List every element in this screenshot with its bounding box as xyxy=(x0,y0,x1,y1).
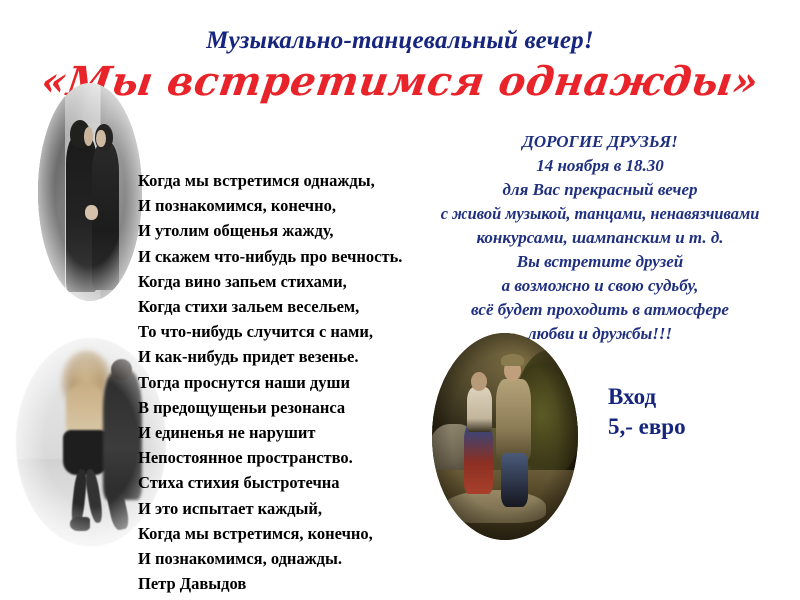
photo-couple-standing-black-and-white xyxy=(38,83,142,301)
poem-author: Петр Давыдов xyxy=(138,571,438,596)
poem-line: Когда мы встретимся однажды, xyxy=(138,168,438,193)
poem-line: Когда стихи зальем весельем, xyxy=(138,294,438,319)
event-poster: Музыкально-танцевальный вечер! «Мы встре… xyxy=(0,0,800,600)
poem-line: И познакомимся, конечно, xyxy=(138,193,438,218)
page-title: Музыкально-танцевальный вечер! xyxy=(0,27,800,55)
poem-line: Непостоянное пространство. xyxy=(138,445,438,470)
poem-line: Тогда проснутся наши души xyxy=(138,370,438,395)
invitation-date-time: 14 ноября в 18.30 xyxy=(400,154,800,178)
entry-label: Вход xyxy=(608,382,686,412)
poem-line: И скажем что-нибудь про вечность. xyxy=(138,244,438,269)
entry-price: 5,- евро xyxy=(608,412,686,442)
poem-line: И это испытает каждый, xyxy=(138,496,438,521)
invitation-line: а возможно и свою судьбу, xyxy=(400,274,800,298)
invitation-line: конкурсами, шампанским и т. д. xyxy=(400,226,800,250)
invitation-block: ДОРОГИЕ ДРУЗЬЯ! 14 ноября в 18.30 для Ва… xyxy=(400,130,800,346)
invitation-line: Вы встретите друзей xyxy=(400,250,800,274)
invitation-line: любви и дружбы!!! xyxy=(400,322,800,346)
invitation-greeting: ДОРОГИЕ ДРУЗЬЯ! xyxy=(400,130,800,154)
photo-oval-vignette xyxy=(38,83,142,301)
poem-line: Стиха стихия быстротечна xyxy=(138,470,438,495)
poem-line: Когда мы встретимся, конечно, xyxy=(138,521,438,546)
painting-oval-vignette xyxy=(432,333,578,540)
poem-line: И познакомимся, однажды. xyxy=(138,546,438,571)
entry-price-block: Вход 5,- евро xyxy=(608,382,686,442)
poem-line: То что-нибудь случится с нами, xyxy=(138,319,438,344)
invitation-line: всё будет проходить в атмосфере xyxy=(400,298,800,322)
painting-couple-in-folk-dress xyxy=(432,333,578,540)
poem-line: В предощущеньи резонанса xyxy=(138,395,438,420)
invitation-line: с живой музыкой, танцами, ненавязчивами xyxy=(400,202,800,226)
invitation-line: для Вас прекрасный вечер xyxy=(400,178,800,202)
poem-line: И как-нибудь придет везенье. xyxy=(138,344,438,369)
poem-line: И единенья не нарушит xyxy=(138,420,438,445)
poem-block: Когда мы встретимся однажды, И познакоми… xyxy=(138,168,438,596)
poem-line: И утолим общенья жажду, xyxy=(138,218,438,243)
poem-line: Когда вино запьем стихами, xyxy=(138,269,438,294)
